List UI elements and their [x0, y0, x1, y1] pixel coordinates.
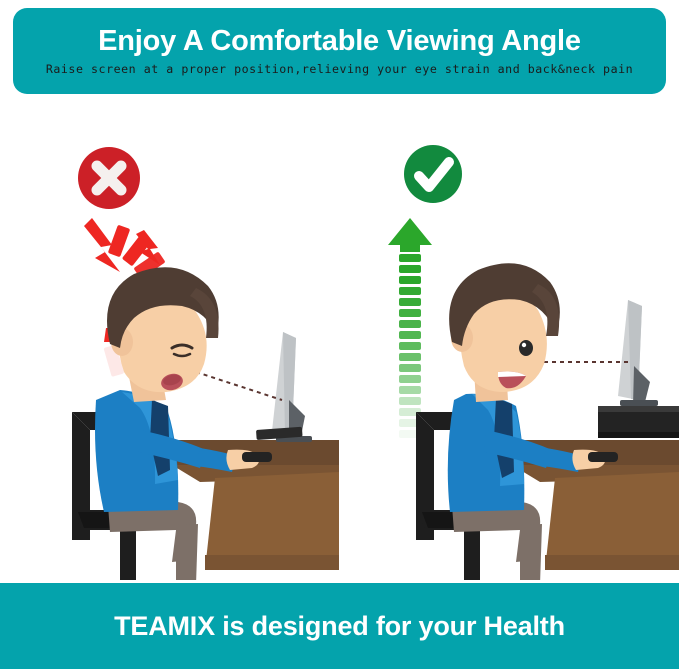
- header-banner: Enjoy A Comfortable Viewing Angle Raise …: [13, 8, 666, 94]
- page-title: Enjoy A Comfortable Viewing Angle: [98, 26, 581, 56]
- figure-head: [449, 263, 560, 402]
- monitor: [272, 332, 312, 442]
- illustration-area: [0, 100, 679, 580]
- sight-line: [196, 372, 282, 400]
- input-device: [588, 452, 618, 462]
- cross-mark-icon: [78, 147, 140, 209]
- monitor: [618, 300, 658, 406]
- scene-incorrect-posture: [0, 100, 339, 580]
- infographic-page: Enjoy A Comfortable Viewing Angle Raise …: [0, 0, 679, 669]
- figure-head: [107, 267, 219, 402]
- check-mark-icon: [404, 145, 462, 203]
- footer-tagline: TEAMIX is designed for your Health: [114, 611, 565, 642]
- raise-arrow-icon: [388, 218, 432, 438]
- scene-correct-posture: [340, 100, 679, 580]
- page-subtitle: Raise screen at a proper position,reliev…: [46, 62, 633, 76]
- monitor-riser: [598, 406, 679, 438]
- footer-banner: TEAMIX is designed for your Health: [0, 583, 679, 669]
